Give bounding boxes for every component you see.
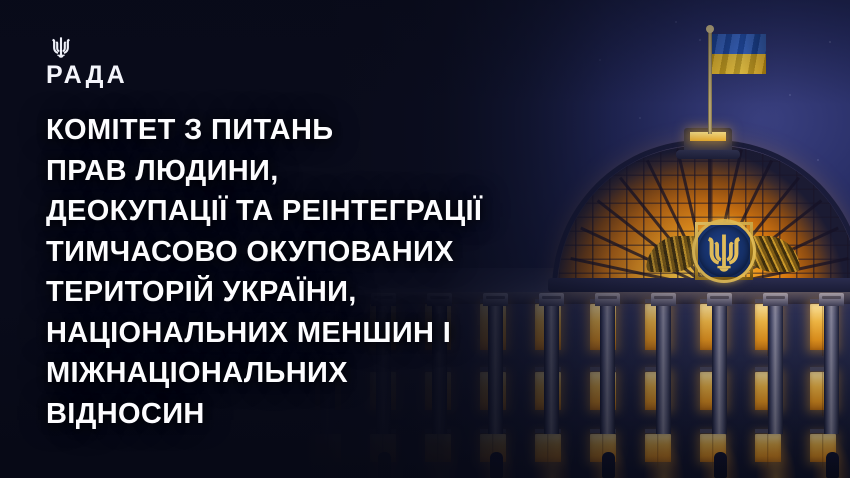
headline-line: ТЕРИТОРІЙ УКРАЇНИ, xyxy=(46,272,666,313)
brand-logo[interactable]: РАДА xyxy=(46,36,128,88)
brand-name: РАДА xyxy=(46,63,128,88)
headline-line: ТИМЧАСОВО ОКУПОВАНИХ xyxy=(46,232,666,273)
tryzub-icon xyxy=(50,36,72,58)
headline-line: НАЦІОНАЛЬНИХ МЕНШИН І xyxy=(46,313,666,354)
headline-line: МІЖНАЦІОНАЛЬНИХ xyxy=(46,353,666,394)
headline-line: ДЕОКУПАЦІЇ ТА РЕІНТЕГРАЦІЇ xyxy=(46,191,666,232)
headline-line: ПРАВ ЛЮДИНИ, xyxy=(46,151,666,192)
page-title: КОМІТЕТ З ПИТАНЬПРАВ ЛЮДИНИ,ДЕОКУПАЦІЇ Т… xyxy=(46,110,666,434)
headline-line: ВІДНОСИН xyxy=(46,394,666,435)
headline-line: КОМІТЕТ З ПИТАНЬ xyxy=(46,110,666,151)
promo-banner: РАДА КОМІТЕТ З ПИТАНЬПРАВ ЛЮДИНИ,ДЕОКУПА… xyxy=(0,0,850,478)
